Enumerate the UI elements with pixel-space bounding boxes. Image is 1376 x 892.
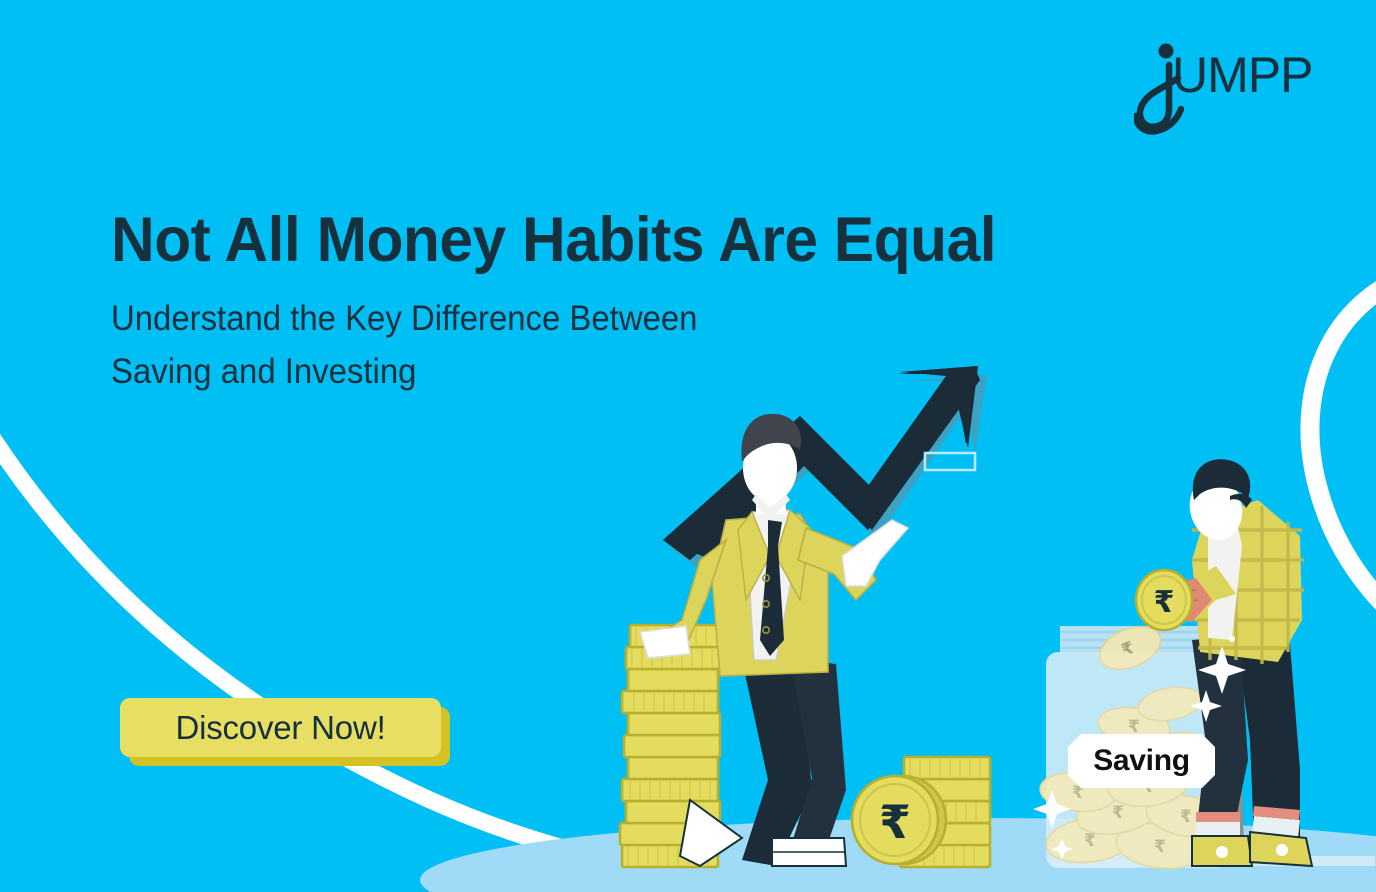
rupee-coin-icon: ₹: [852, 776, 946, 864]
logo-wordmark: UMPP: [1172, 47, 1312, 103]
discover-now-button[interactable]: Discover Now!: [120, 698, 441, 757]
jar-rim: [1060, 626, 1218, 656]
page-subtitle: Understand the Key Difference Between Sa…: [111, 292, 697, 398]
growth-arrow-body: [665, 366, 980, 560]
coin-stack-tall: [620, 625, 722, 867]
savings-jar-label: Saving: [1068, 734, 1215, 788]
svg-text:₹: ₹: [1119, 638, 1137, 661]
jumpp-logo[interactable]: UMPP: [1134, 34, 1314, 144]
saver-character: ₹: [1136, 459, 1312, 866]
svg-text:₹: ₹: [1154, 585, 1175, 620]
held-rupee-coin-icon: ₹: [1136, 570, 1192, 630]
decor-rectangle-icon: [925, 453, 975, 470]
cta-container: Discover Now!: [120, 698, 450, 766]
svg-text:₹: ₹: [1180, 807, 1192, 827]
coin-stack-short: [898, 757, 990, 867]
falling-coin-icon: ₹: [1093, 618, 1167, 677]
svg-text:₹: ₹: [1154, 837, 1166, 857]
page-title: Not All Money Habits Are Equal: [111, 207, 996, 273]
svg-text:₹: ₹: [1084, 831, 1096, 851]
svg-text:₹: ₹: [1112, 803, 1124, 823]
growth-arrow-icon: [663, 366, 987, 569]
subtitle-line-1: Understand the Key Difference Between: [111, 292, 697, 345]
ground-shadow: [420, 818, 1376, 892]
investor-character: [640, 414, 908, 866]
promo-banner: UMPP Not All Money Habits Are Equal Unde…: [0, 0, 1376, 892]
subtitle-line-2: Saving and Investing: [111, 345, 697, 398]
svg-text:₹: ₹: [879, 795, 911, 849]
